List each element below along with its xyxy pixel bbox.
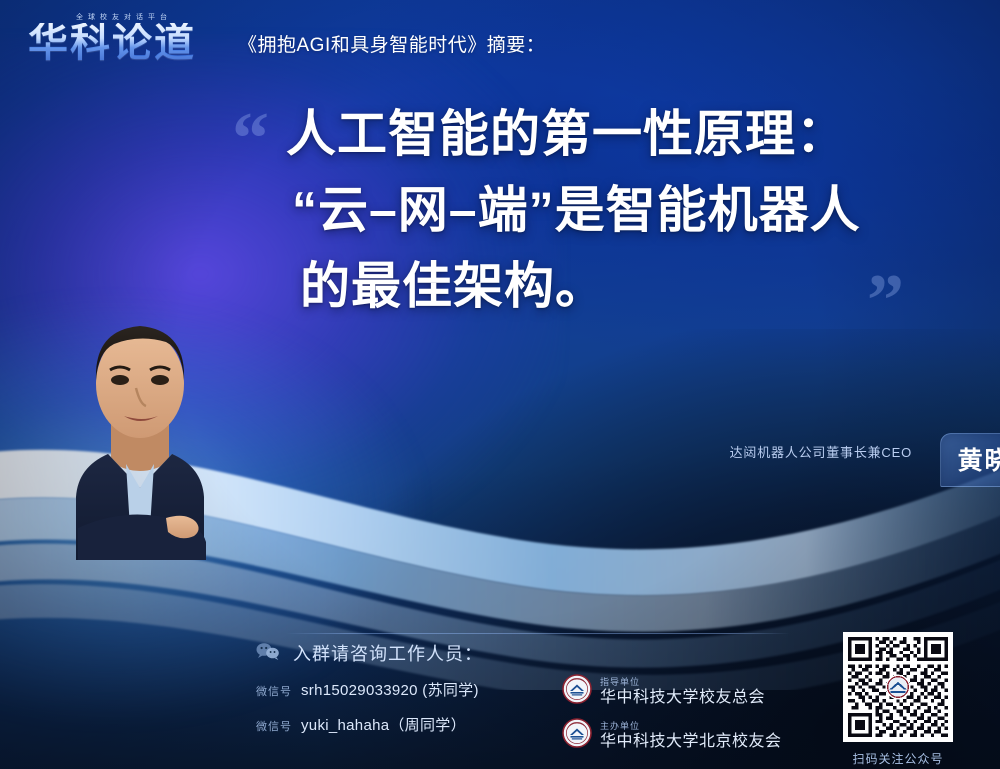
organization-text: 指导单位 华中科技大学校友总会 bbox=[600, 677, 765, 707]
brand-wordmark: 华科论道 bbox=[28, 23, 220, 63]
brand-tagline: 全球校友对话平台 bbox=[76, 12, 172, 22]
brand-logo[interactable]: 全球校友对话平台 华科论道 bbox=[28, 14, 220, 63]
organization-label: 指导单位 bbox=[600, 677, 765, 688]
page-title: 《拥抱AGI和具身智能时代》摘要： bbox=[238, 30, 545, 63]
qr-caption: 扫码关注公众号 bbox=[836, 750, 960, 767]
quote-line-1: 人工智能的第一性原理： bbox=[286, 96, 972, 172]
speaker-attribution: 达闼机器人公司董事长兼CEO 黄晓庆 bbox=[730, 442, 912, 461]
speaker-role: 达闼机器人公司董事长兼CEO bbox=[730, 442, 912, 461]
qr-code-icon[interactable] bbox=[843, 632, 953, 742]
organization-label: 主办单位 bbox=[600, 721, 782, 732]
contact-list: 微信号 srh15029033920 (苏同学) 微信号 yuki_hahaha… bbox=[256, 679, 479, 749]
poster-header: 全球校友对话平台 华科论道 《拥抱AGI和具身智能时代》摘要： bbox=[28, 14, 545, 63]
organization-list: 指导单位 华中科技大学校友总会 主办单位 bbox=[562, 674, 782, 762]
qr-block: 扫码关注公众号 bbox=[836, 632, 960, 767]
footer-section: 入群请咨询工作人员： 微信号 srh15029033920 (苏同学) 微信号 … bbox=[256, 640, 816, 749]
quote-close-mark: ” bbox=[867, 264, 904, 338]
footer-divider bbox=[286, 633, 790, 634]
organization-row: 主办单位 华中科技大学北京校友会 bbox=[562, 718, 782, 753]
quote-block: “ ” 人工智能的第一性原理： “云–网–端”是智能机器人 的最佳架构。 bbox=[232, 96, 972, 324]
footer-heading-row: 入群请咨询工作人员： bbox=[256, 640, 816, 666]
contact-label: 微信号 bbox=[256, 683, 292, 699]
poster-root: 全球校友对话平台 华科论道 《拥抱AGI和具身智能时代》摘要： “ ” 人工智能… bbox=[0, 0, 1000, 769]
hust-seal-icon bbox=[562, 718, 592, 753]
hust-seal-icon bbox=[562, 674, 592, 709]
speaker-name-badge: 黄晓庆 bbox=[940, 433, 1000, 487]
footer-heading-text: 入群请咨询工作人员： bbox=[293, 640, 483, 666]
wechat-icon bbox=[256, 642, 280, 665]
speaker-portrait-photo bbox=[16, 292, 264, 560]
contact-value[interactable]: srh15029033920 (苏同学) bbox=[301, 679, 479, 700]
organization-row: 指导单位 华中科技大学校友总会 bbox=[562, 674, 782, 709]
contact-row: 微信号 srh15029033920 (苏同学) bbox=[256, 679, 479, 700]
organization-name: 华中科技大学北京校友会 bbox=[600, 732, 782, 751]
contact-value[interactable]: yuki_hahaha（周同学） bbox=[301, 714, 466, 735]
quote-open-mark: “ bbox=[232, 102, 269, 176]
quote-line-2: “云–网–端”是智能机器人 bbox=[292, 172, 972, 248]
organization-name: 华中科技大学校友总会 bbox=[600, 688, 765, 707]
contact-label: 微信号 bbox=[256, 718, 292, 734]
contact-row: 微信号 yuki_hahaha（周同学） bbox=[256, 714, 479, 735]
organization-text: 主办单位 华中科技大学北京校友会 bbox=[600, 721, 782, 751]
